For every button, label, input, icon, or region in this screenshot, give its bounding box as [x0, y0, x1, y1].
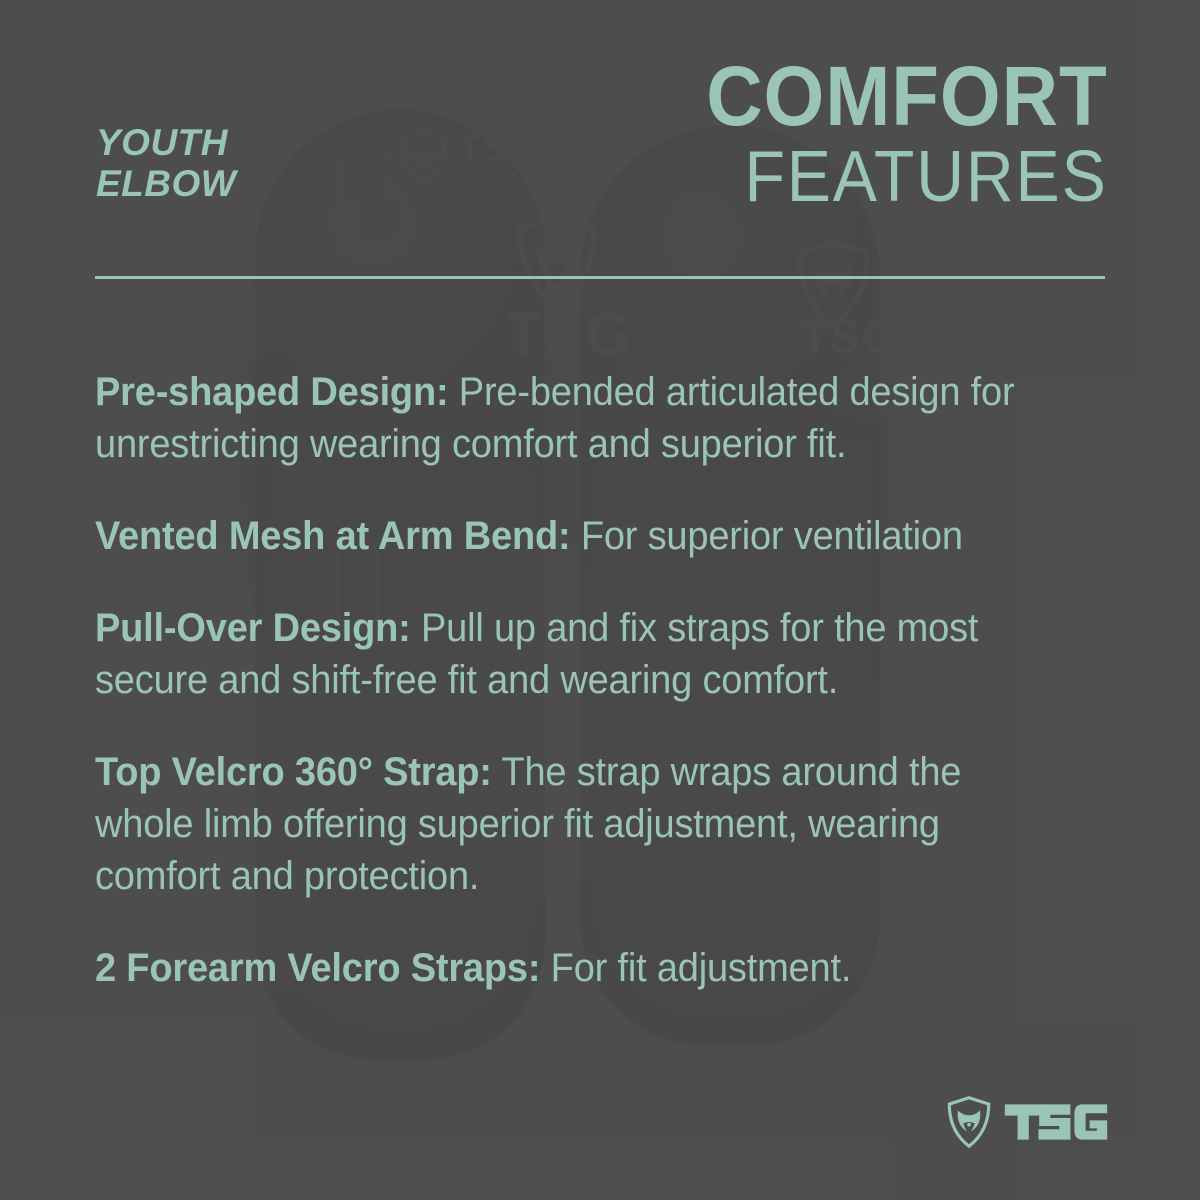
- title-main: COMFORT: [707, 56, 1108, 137]
- kicker-line-2: ELBOW: [96, 163, 236, 204]
- tsg-shield-icon: [946, 1096, 992, 1148]
- feature-title: Pre-shaped Design:: [95, 370, 448, 414]
- feature-title: Top Velcro 360° Strap:: [95, 750, 492, 794]
- tsg-logo: [946, 1096, 1108, 1148]
- feature-item: Vented Mesh at Arm Bend: For superior ve…: [95, 510, 1064, 562]
- feature-item: Pre-shaped Design: Pre-bended articulate…: [95, 366, 1064, 470]
- feature-item: Top Velcro 360° Strap: The strap wraps a…: [95, 746, 1064, 902]
- page-title: COMFORT FEATURES: [676, 56, 1108, 213]
- feature-item: Pull-Over Design: Pull up and fix straps…: [95, 602, 1064, 706]
- title-sub: FEATURES: [711, 141, 1108, 213]
- feature-body: For fit adjustment.: [540, 946, 851, 990]
- feature-body: For superior ventilation: [570, 514, 962, 558]
- feature-item: 2 Forearm Velcro Straps: For fit adjustm…: [95, 942, 1064, 994]
- comfort-features-poster: TSG TSG TSG YOUTH ELBOW YOUTH ELBOW COMF…: [0, 0, 1200, 1200]
- feature-title: Pull-Over Design:: [95, 606, 411, 650]
- poster-content: YOUTH ELBOW COMFORT FEATURES Pre-shaped …: [0, 0, 1200, 1200]
- feature-title: 2 Forearm Velcro Straps:: [95, 946, 540, 990]
- feature-title: Vented Mesh at Arm Bend:: [95, 514, 570, 558]
- feature-list: Pre-shaped Design: Pre-bended articulate…: [95, 326, 1115, 994]
- tsg-wordmark-icon: [1004, 1102, 1108, 1142]
- product-kicker: YOUTH ELBOW: [96, 122, 236, 205]
- kicker-line-1: YOUTH: [96, 122, 236, 163]
- header-divider: [95, 276, 1105, 279]
